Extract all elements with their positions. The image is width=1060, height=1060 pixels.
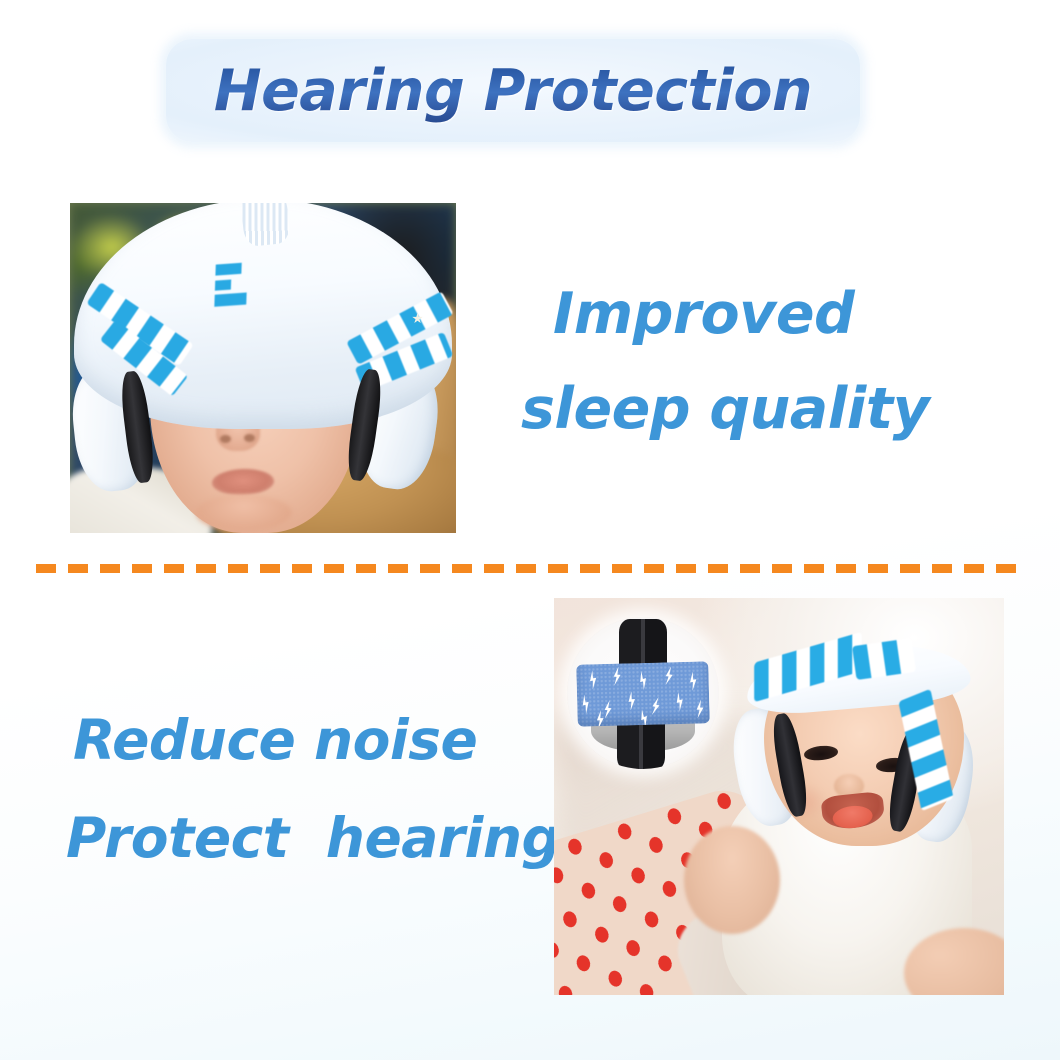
feature-2-headline-line2: Protect hearing <box>66 811 560 866</box>
sleeping-newborn-with-earmuffs-photo <box>70 203 456 533</box>
lightning-bolt-icon <box>626 691 637 711</box>
lightning-bolt-icon <box>579 694 592 715</box>
lightning-bolt-icon <box>596 710 605 727</box>
dashed-divider <box>36 564 1026 573</box>
baby-chin <box>196 495 292 531</box>
feature-1-headline-line2: sleep quality <box>521 381 929 438</box>
lightning-print-headband <box>576 661 710 726</box>
lightning-bolt-icon <box>687 671 698 691</box>
headband-logo-mark <box>214 261 263 307</box>
lightning-bolt-icon <box>695 699 705 718</box>
lightning-bolt-icon <box>663 666 675 686</box>
lightning-bolt-icon <box>602 699 613 719</box>
nostril-left <box>220 435 231 443</box>
lightning-bolt-icon <box>612 666 622 686</box>
page-title: Hearing Protection <box>166 39 860 142</box>
feature-2-headline-line1: Reduce noise <box>73 713 477 768</box>
lightning-bolt-icon <box>637 708 651 727</box>
lightning-bolt-icon <box>649 696 662 716</box>
product-closeup-inset <box>567 617 719 769</box>
nostril-right <box>244 434 255 442</box>
lightning-bolt-icon <box>636 670 650 691</box>
lightning-bolt-icon <box>587 670 599 690</box>
lightning-bolt-icon <box>673 691 686 711</box>
feature-1-headline-line1: Improved <box>553 286 854 343</box>
product-infographic: Hearing Protection Improved sleep qualit… <box>0 0 1060 1060</box>
smiling-baby-with-earmuffs-photo <box>554 598 1004 995</box>
baby-shoulder <box>684 826 780 934</box>
